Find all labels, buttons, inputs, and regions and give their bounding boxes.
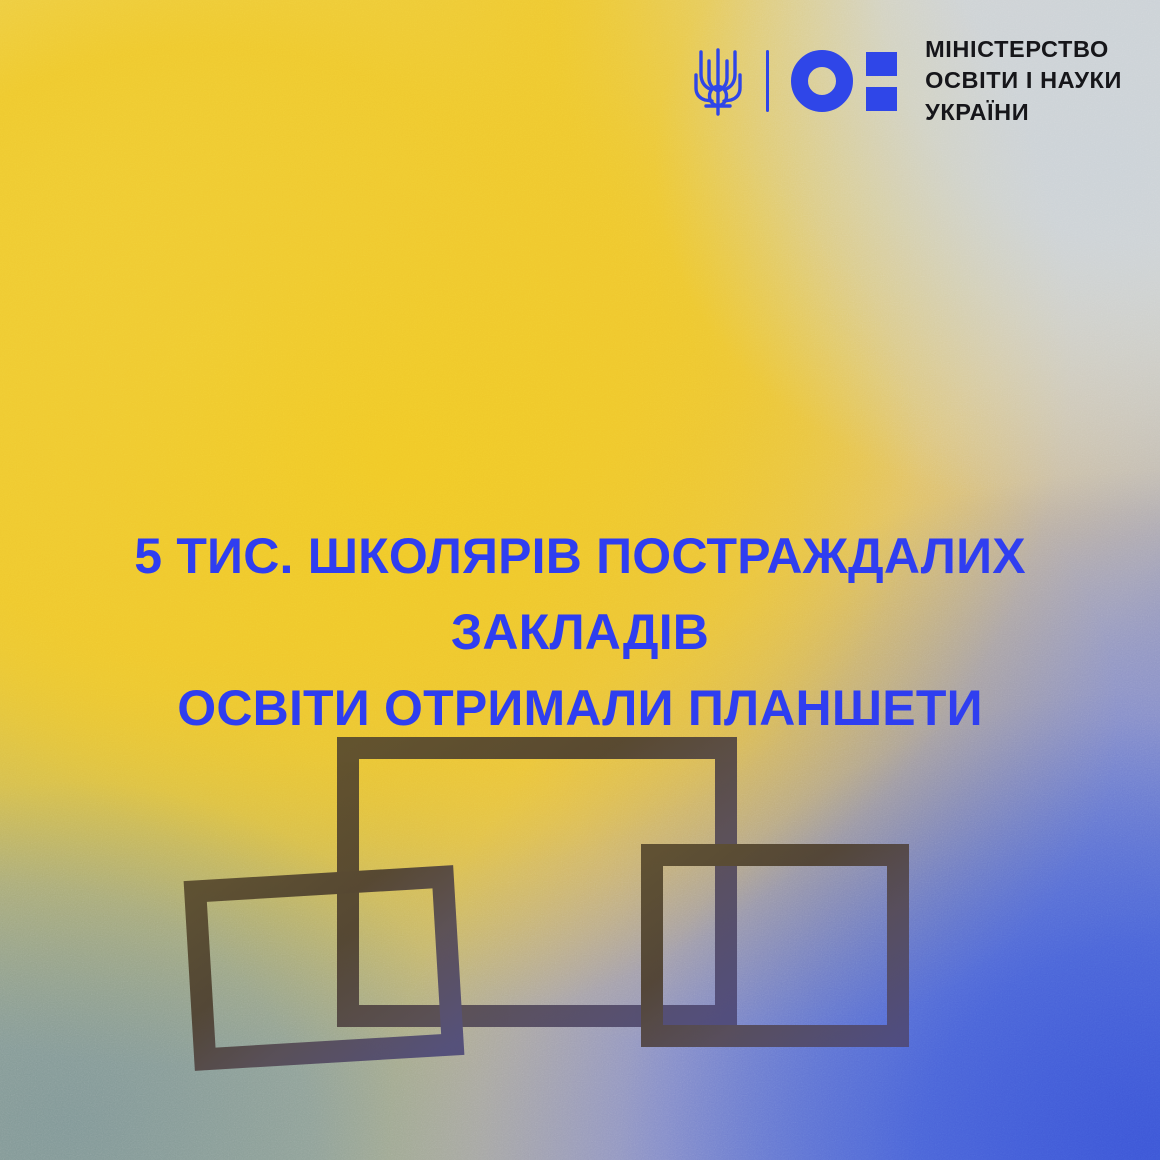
logo-divider: [766, 50, 769, 112]
mon-logo-mark: [791, 50, 897, 112]
colon-square-bottom-icon: [866, 87, 897, 111]
ministry-name: МІНІСТЕРСТВО ОСВІТИ І НАУКИ УКРАЇНИ: [925, 34, 1122, 128]
o-ring-icon: [791, 50, 853, 112]
ministry-logo-lockup: МІНІСТЕРСТВО ОСВІТИ І НАУКИ УКРАЇНИ: [692, 34, 1122, 128]
ministry-name-line-2: ОСВІТИ І НАУКИ: [925, 65, 1122, 96]
colon-squares-icon: [866, 52, 897, 111]
ministry-name-line-3: УКРАЇНИ: [925, 97, 1122, 128]
headline-line-1: 5 ТИС. ШКОЛЯРІВ ПОСТРАЖДАЛИХ ЗАКЛАДІВ: [40, 518, 1120, 670]
tablet-screen-left: [195, 877, 453, 1059]
headline: 5 ТИС. ШКОЛЯРІВ ПОСТРАЖДАЛИХ ЗАКЛАДІВ ОС…: [0, 518, 1160, 746]
ministry-name-line-1: МІНІСТЕРСТВО: [925, 34, 1122, 65]
ukraine-trident-icon: [692, 44, 744, 118]
poster-canvas: МІНІСТЕРСТВО ОСВІТИ І НАУКИ УКРАЇНИ 5 ТИ…: [0, 0, 1160, 1160]
headline-line-2: ОСВІТИ ОТРИМАЛИ ПЛАНШЕТИ: [40, 670, 1120, 746]
colon-square-top-icon: [866, 52, 897, 76]
